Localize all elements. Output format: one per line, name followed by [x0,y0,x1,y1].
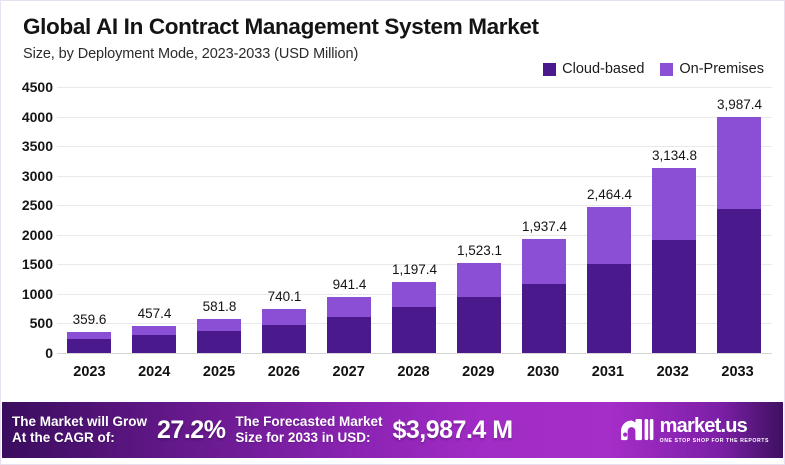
legend-swatch-icon [543,63,556,76]
stacked-bar[interactable]: 457.4 [132,326,176,353]
bar-segment-on-premises[interactable] [67,332,111,339]
bar-total-label: 1,937.4 [522,219,567,234]
y-axis-tick-label: 4000 [22,109,53,125]
stacked-bar[interactable]: 1,937.4 [522,239,566,354]
bar-segment-cloud-based[interactable] [522,284,566,353]
bar-segment-on-premises[interactable] [457,263,501,297]
y-axis-tick-label: 2000 [22,227,53,243]
bar-group-2027[interactable]: 941.4 [317,87,382,353]
y-axis: 050010001500200025003000350040004500 [1,87,53,353]
stacked-bar[interactable]: 581.8 [197,319,241,353]
forecast-caption-line2: Size for 2033 in USD: [235,430,382,446]
cagr-value: 27.2% [157,416,225,445]
bar-segment-on-premises[interactable] [327,297,371,316]
bar-segment-on-premises[interactable] [522,239,566,285]
logo-tagline: ONE STOP SHOP FOR THE REPORTS [660,438,769,444]
x-axis-tick-label: 2025 [187,364,252,380]
legend-label: Cloud-based [562,61,644,77]
bar-group-2028[interactable]: 1,197.4 [382,87,447,353]
plot-area: 050010001500200025003000350040004500 359… [1,87,785,359]
legend-label: On-Premises [679,61,764,77]
cagr-caption: The Market will Grow At the CAGR of: [12,414,147,447]
y-axis-tick-label: 3000 [22,168,53,184]
x-axis: 2023202420252026202720282029203020312032… [57,359,770,385]
logo-text: market.us ONE STOP SHOP FOR THE REPORTS [660,416,769,444]
bar-segment-on-premises[interactable] [132,326,176,335]
bar-total-label: 941.4 [333,277,367,292]
bar-group-2023[interactable]: 359.6 [57,87,122,353]
legend-item-on-premises[interactable]: On-Premises [660,61,764,77]
bar-total-label: 740.1 [268,289,302,304]
bar-total-label: 2,464.4 [587,187,632,202]
stacked-bar[interactable]: 941.4 [327,297,371,353]
stacked-bar[interactable]: 359.6 [67,332,111,353]
market-us-logomark-icon [620,418,654,442]
bar-total-label: 3,987.4 [717,97,762,112]
bar-total-label: 457.4 [138,306,172,321]
bar-group-2030[interactable]: 1,937.4 [512,87,577,353]
bar-group-2024[interactable]: 457.4 [122,87,187,353]
bar-segment-cloud-based[interactable] [717,209,761,353]
x-axis-tick-label: 2030 [511,364,576,380]
stacked-bar[interactable]: 3,134.8 [652,168,696,353]
chart-legend: Cloud-based On-Premises [543,61,764,77]
y-axis-tick-label: 1000 [22,286,53,302]
bar-total-label: 1,523.1 [457,243,502,258]
chart-infographic: Global AI In Contract Management System … [0,0,785,465]
bar-segment-cloud-based[interactable] [392,307,436,353]
y-axis-tick-label: 500 [30,315,53,331]
legend-swatch-icon [660,63,673,76]
bar-group-2033[interactable]: 3,987.4 [707,87,772,353]
bar-segment-on-premises[interactable] [652,168,696,240]
x-axis-tick-label: 2031 [576,364,641,380]
stacked-bar[interactable]: 3,987.4 [717,117,761,353]
bar-total-label: 1,197.4 [392,262,437,277]
bar-segment-cloud-based[interactable] [67,339,111,353]
bar-group-2029[interactable]: 1,523.1 [447,87,512,353]
y-axis-tick-label: 4500 [22,79,53,95]
y-axis-tick-label: 0 [45,345,53,361]
y-axis-tick-label: 1500 [22,256,53,272]
legend-item-cloud-based[interactable]: Cloud-based [543,61,644,77]
bar-segment-on-premises[interactable] [392,282,436,307]
bar-segment-on-premises[interactable] [587,207,631,264]
bar-group-2031[interactable]: 2,464.4 [577,87,642,353]
bar-total-label: 359.6 [73,312,107,327]
bar-segment-on-premises[interactable] [197,319,241,331]
x-axis-tick-label: 2023 [57,364,122,380]
stacked-bar[interactable]: 1,197.4 [392,282,436,353]
stacked-bar[interactable]: 2,464.4 [587,207,631,353]
bar-total-label: 581.8 [203,299,237,314]
bar-segment-on-premises[interactable] [262,309,306,324]
bar-segment-cloud-based[interactable] [132,335,176,353]
x-axis-tick-label: 2028 [381,364,446,380]
x-axis-tick-label: 2029 [446,364,511,380]
market-us-logo[interactable]: market.us ONE STOP SHOP FOR THE REPORTS [620,416,769,444]
cagr-caption-line1: The Market will Grow [12,414,147,430]
logo-name: market.us [660,416,769,436]
bar-segment-cloud-based[interactable] [652,240,696,353]
bar-total-label: 3,134.8 [652,148,697,163]
x-axis-tick-label: 2027 [316,364,381,380]
axis-baseline [57,353,772,354]
chart-header: Global AI In Contract Management System … [23,15,766,62]
bar-segment-cloud-based[interactable] [197,331,241,353]
bar-segment-cloud-based[interactable] [327,317,371,353]
bar-group-2025[interactable]: 581.8 [187,87,252,353]
bar-segment-cloud-based[interactable] [262,325,306,353]
bar-group-2026[interactable]: 740.1 [252,87,317,353]
forecast-value: $3,987.4 M [392,416,512,445]
bar-series-group: 359.6457.4581.8740.1941.41,197.41,523.11… [57,87,772,353]
page-title: Global AI In Contract Management System … [23,15,766,40]
bar-group-2032[interactable]: 3,134.8 [642,87,707,353]
bar-segment-cloud-based[interactable] [587,264,631,353]
x-axis-tick-label: 2026 [251,364,316,380]
x-axis-tick-label: 2033 [705,364,770,380]
footer-banner: The Market will Grow At the CAGR of: 27.… [2,402,783,458]
y-axis-tick-label: 3500 [22,138,53,154]
stacked-bar[interactable]: 1,523.1 [457,263,501,353]
y-axis-tick-label: 2500 [22,197,53,213]
chart-subtitle: Size, by Deployment Mode, 2023-2033 (USD… [23,46,766,62]
bar-segment-cloud-based[interactable] [457,297,501,353]
stacked-bar[interactable]: 740.1 [262,309,306,353]
forecast-caption-line1: The Forecasted Market [235,414,382,430]
x-axis-tick-label: 2024 [122,364,187,380]
bar-segment-on-premises[interactable] [717,117,761,209]
cagr-caption-line2: At the CAGR of: [12,430,147,446]
x-axis-tick-label: 2032 [640,364,705,380]
forecast-caption: The Forecasted Market Size for 2033 in U… [235,414,382,447]
